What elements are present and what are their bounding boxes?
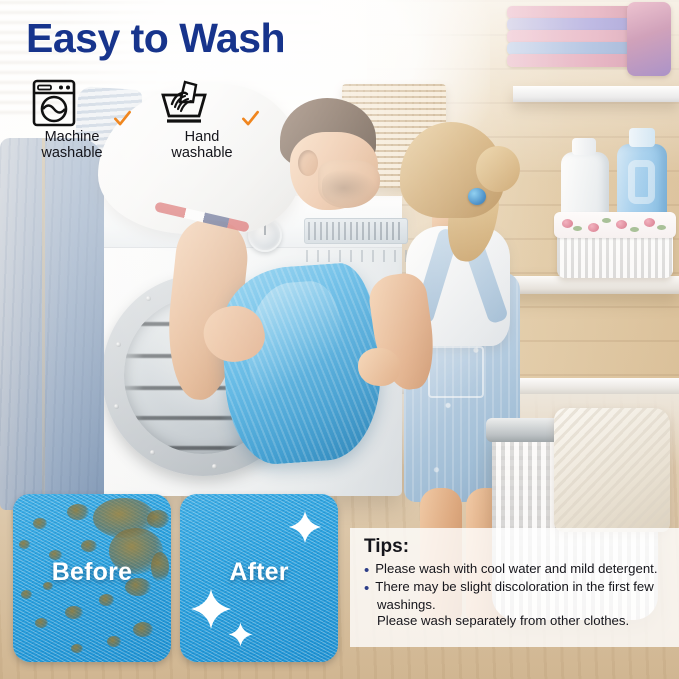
man-jeans [0, 138, 104, 510]
badge-hand-washable: Hand washable [158, 78, 262, 161]
before-pad: Before [13, 494, 171, 662]
badge-machine-label: Machine washable [30, 130, 114, 161]
washing-machine-icon [30, 78, 82, 128]
leaf-motif [602, 218, 611, 223]
upper-shelf [513, 86, 679, 102]
bottle-cap [572, 138, 596, 155]
wash-care-badges: Machine washable Hand [30, 78, 262, 161]
stain [35, 618, 48, 628]
bullet-icon: • [364, 561, 369, 579]
leaf-motif [630, 227, 639, 232]
stain [133, 622, 153, 637]
bottle-handle [628, 160, 655, 204]
badge-label-line1: Machine [30, 130, 114, 146]
man-ear [298, 150, 318, 176]
stain [65, 606, 83, 619]
leaf-motif [657, 225, 666, 230]
stain [107, 636, 121, 647]
stain [71, 644, 83, 653]
folded-towel-right [627, 2, 671, 76]
orange-check-icon [113, 109, 132, 128]
sparkle-icon [228, 622, 253, 647]
rose-motif [562, 219, 573, 228]
bullet-icon: • [364, 579, 369, 597]
detergent-group [557, 148, 673, 278]
blue-hair-tie [468, 188, 486, 205]
stain [33, 518, 47, 529]
before-after-comparison: Before After [13, 494, 338, 662]
girl-hair-bun [476, 146, 520, 192]
sparkle-icon [190, 588, 232, 630]
floral-liner [554, 212, 676, 238]
folded-towels-stack [507, 0, 657, 88]
tip-text: Please wash with cool water and mild det… [375, 561, 669, 579]
stain [19, 540, 30, 549]
tips-panel: Tips: • Please wash with cool water and … [350, 528, 679, 647]
badge-label-line2: washable [158, 146, 246, 162]
rose-motif [616, 220, 627, 229]
tip-item: • Please wash with cool water and mild d… [364, 561, 669, 579]
tip-item: • There may be slight discoloration in t… [364, 579, 669, 597]
stain [81, 540, 97, 552]
after-pad: After [180, 494, 338, 662]
stain [99, 594, 114, 606]
after-label: After [180, 558, 338, 587]
rose-motif [644, 218, 655, 227]
stain [21, 590, 32, 599]
page-title: Easy to Wash [26, 18, 285, 59]
leaf-motif [573, 226, 582, 231]
sparkle-icon [288, 510, 322, 544]
badge-machine-washable: Machine washable [30, 78, 134, 161]
rose-motif [588, 223, 599, 232]
tip-text-continued: washings. [364, 597, 669, 613]
badge-label-line1: Hand [158, 130, 246, 146]
girl-hand [358, 348, 400, 386]
floral-storage-basket [557, 224, 673, 278]
before-label: Before [13, 558, 171, 587]
hand-wash-icon [158, 78, 212, 128]
stain [147, 510, 169, 528]
product-infographic: Easy to Wash Machine washa [0, 0, 679, 679]
badge-label-line2: washable [30, 146, 114, 162]
badge-hand-label: Hand washable [158, 130, 246, 161]
badge-icon-row [30, 78, 134, 128]
orange-check-icon [241, 109, 260, 128]
stain [67, 504, 89, 520]
tips-title: Tips: [364, 536, 669, 558]
bottle-cap [629, 128, 655, 147]
cream-towel [554, 408, 670, 532]
overall-pocket [428, 346, 484, 398]
tip-note: Please wash separately from other clothe… [364, 613, 669, 629]
tip-text: There may be slight discoloration in the… [375, 579, 669, 597]
badge-icon-row [158, 78, 262, 128]
man-head [274, 98, 382, 210]
